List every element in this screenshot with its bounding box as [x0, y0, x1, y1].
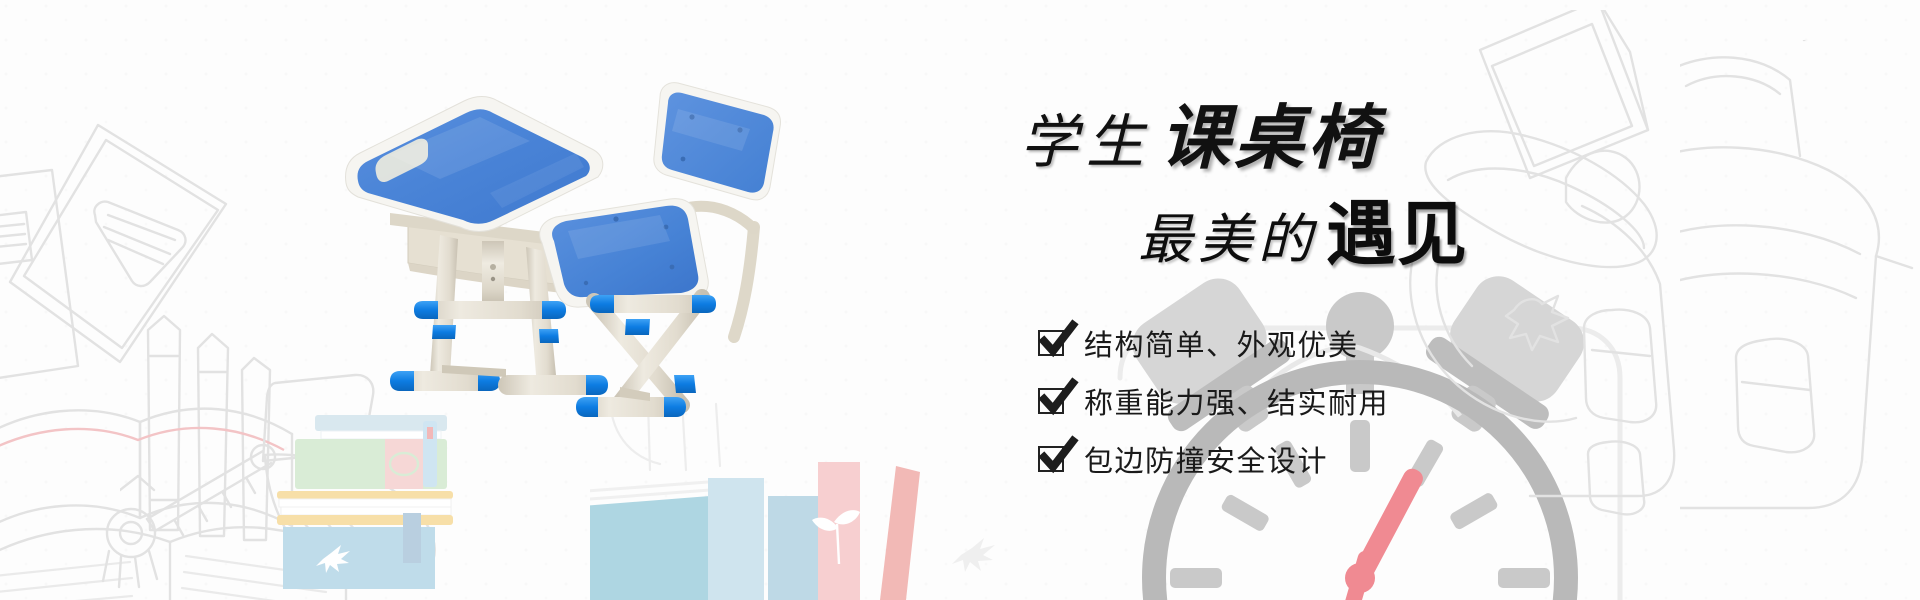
feature-item: 结构简单、外观优美 — [1038, 319, 1630, 367]
product-photo-desk-and-chair — [330, 75, 930, 520]
headline-line-2-bold: 遇见 — [1326, 197, 1468, 274]
headline-line-1: 学生课桌椅 — [1020, 105, 1630, 175]
checkbox-checked-icon — [1038, 330, 1064, 356]
headline-line-2-light: 最美的 — [1138, 210, 1318, 270]
feature-label: 结构简单、外观优美 — [1084, 322, 1359, 364]
feature-label: 称重能力强、结实耐用 — [1084, 380, 1389, 422]
feature-list: 结构简单、外观优美 称重能力强、结实耐用 包边防撞安全设计 — [1038, 319, 1630, 483]
schoolbag-side-outline-icon — [1680, 40, 1920, 520]
checkbox-checked-icon — [1038, 446, 1064, 472]
product-banner: 学生课桌椅 最美的遇见 结构简单、外观优美 称重能力强、结实耐用 — [0, 0, 1920, 600]
notebook-outline-icon — [0, 70, 320, 400]
banner-text-block: 学生课桌椅 最美的遇见 结构简单、外观优美 称重能力强、结实耐用 — [1010, 105, 1630, 493]
background-texture — [0, 0, 1920, 600]
chair — [540, 83, 781, 417]
background-illustrations — [0, 0, 1920, 600]
headline-line-1-light: 学生 — [1020, 110, 1152, 175]
headline-line-2: 最美的遇见 — [1138, 201, 1630, 271]
checkbox-checked-icon — [1038, 388, 1064, 414]
feature-item: 包边防撞安全设计 — [1038, 435, 1630, 483]
feature-label: 包边防撞安全设计 — [1084, 438, 1328, 480]
headline-line-1-bold: 课桌椅 — [1160, 101, 1382, 178]
pencil-outline-icon — [120, 300, 320, 600]
feature-item: 称重能力强、结实耐用 — [1038, 377, 1630, 425]
